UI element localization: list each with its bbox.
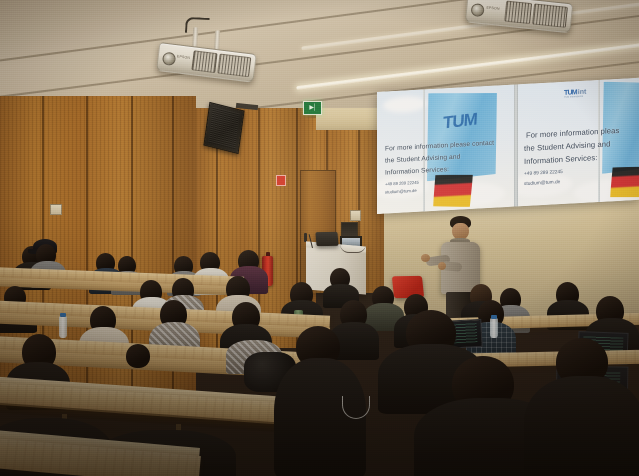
presenter-hand-right (438, 262, 446, 270)
projector-vent (191, 50, 217, 73)
projector-body: EPSON (465, 0, 574, 33)
projector-lens (470, 3, 484, 17)
bottle-cap (60, 313, 66, 317)
projection-panel-left: TUM For more information please contact … (377, 85, 514, 214)
water-bottle[interactable] (59, 316, 67, 338)
wall-control-panel[interactable] (50, 204, 62, 215)
emergency-exit-sign: ▶│ (303, 101, 322, 115)
lectern-monitor[interactable] (315, 232, 338, 246)
projector-lens (162, 52, 176, 66)
projector-brand-label: EPSON (177, 55, 191, 60)
projector-vent (532, 3, 568, 27)
projector-brand-label: EPSON (486, 6, 500, 11)
av-recess (341, 222, 358, 237)
projector-vent (504, 1, 532, 25)
ceiling-projector-left: EPSON (146, 15, 269, 87)
wall-speaker (203, 102, 244, 154)
lecture-hall-photo: EPSON EPSON (0, 0, 639, 476)
tum-int-logo: TUM int TUM International (564, 89, 586, 97)
presenter-hand-left (421, 254, 430, 262)
student-shoulders (524, 376, 639, 476)
german-flag-band (433, 173, 473, 209)
bottle-cap (491, 315, 497, 319)
ceiling-projector-right: EPSON (455, 0, 587, 50)
fire-extinguisher-sign (276, 175, 286, 186)
projector-body: EPSON (156, 42, 257, 83)
german-flag-band (610, 165, 639, 199)
projector-mount (214, 30, 220, 50)
speaker-grille (208, 107, 240, 149)
projection-screen: TUM For more information please contact … (377, 78, 639, 214)
student-head (126, 344, 150, 368)
plaster-wall-upper-left (316, 108, 386, 130)
projector-vent (217, 53, 251, 77)
projection-panel-right: TUM int TUM International For more infor… (518, 78, 639, 207)
exit-running-man-icon: ▶│ (309, 105, 315, 111)
water-bottle[interactable] (490, 318, 498, 338)
lectern-microphone (312, 234, 313, 248)
av-wall-plate[interactable] (350, 210, 361, 221)
